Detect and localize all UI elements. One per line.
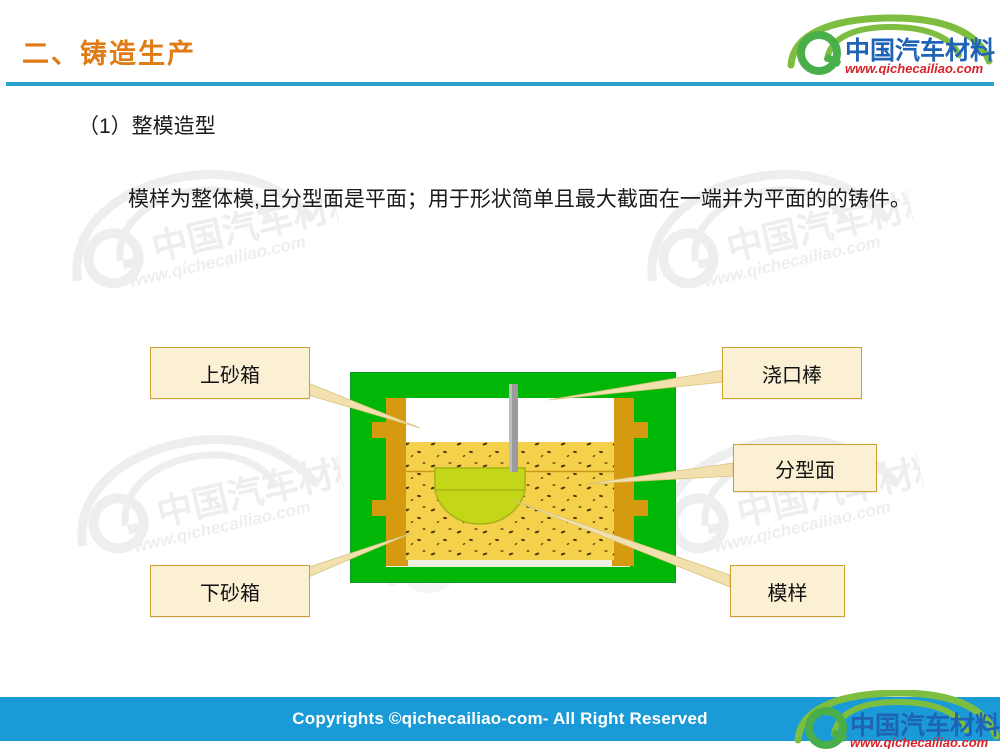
callout-label-sprue-pin-text: 浇口棒 <box>762 359 822 388</box>
upper-flask-left-lug <box>372 422 388 438</box>
upper-flask-left-rail <box>386 398 408 478</box>
callout-label-lower-flask[interactable]: 下砂箱 <box>150 565 310 617</box>
upper-flask-right-lug <box>632 422 648 438</box>
header-divider <box>6 82 994 86</box>
callout-label-upper-flask-text: 上砂箱 <box>200 359 260 388</box>
callout-label-parting-surface-text: 分型面 <box>775 454 835 483</box>
callout-label-pattern-text: 模样 <box>768 577 808 606</box>
svg-text:www.qichecailiao.com: www.qichecailiao.com <box>132 497 312 556</box>
upper-flask-right-rail <box>612 398 634 478</box>
svg-text:www.qichecailiao.com: www.qichecailiao.com <box>702 232 882 291</box>
watermark-logo: 中国汽车材料网 www.qichecailiao.com <box>51 400 349 570</box>
callout-label-pattern[interactable]: 模样 <box>730 565 845 617</box>
brand-logo-footer: 中国汽车材料网 www.qichecailiao.com <box>792 690 1000 749</box>
callout-label-parting-surface[interactable]: 分型面 <box>733 444 877 492</box>
lower-flask-right-rail <box>612 474 634 566</box>
svg-text:www.qichecailiao.com: www.qichecailiao.com <box>127 232 307 291</box>
callout-label-lower-flask-text: 下砂箱 <box>200 577 260 606</box>
lower-flask-left-rail <box>386 474 408 566</box>
molding-diagram <box>350 372 676 583</box>
page-title: 二、铸造生产 <box>22 32 196 71</box>
callout-label-upper-flask[interactable]: 上砂箱 <box>150 347 310 399</box>
lower-flask-right-lug <box>632 500 648 516</box>
svg-text:www.qichecailiao.com: www.qichecailiao.com <box>712 497 892 556</box>
lower-flask-left-lug <box>372 500 388 516</box>
svg-text:中国汽车材料网: 中国汽车材料网 <box>153 437 349 534</box>
brand-url: www.qichecailiao.com <box>850 735 989 749</box>
section-paragraph: 模样为整体模,且分型面是平面；用于形状简单且最大截面在一端并为平面的的铸件。 <box>128 178 948 222</box>
section-subheading: （1）整模造型 <box>78 110 216 140</box>
brand-url: www.qichecailiao.com <box>845 61 984 75</box>
sprue-pin-highlight <box>509 384 512 472</box>
callout-label-sprue-pin[interactable]: 浇口棒 <box>722 347 862 399</box>
slide: 中国汽车材料网 www.qichecailiao.com 中国汽车材料网 www… <box>0 0 1000 749</box>
brand-logo-header: 中国汽车材料网 www.qichecailiao.com <box>783 13 995 75</box>
